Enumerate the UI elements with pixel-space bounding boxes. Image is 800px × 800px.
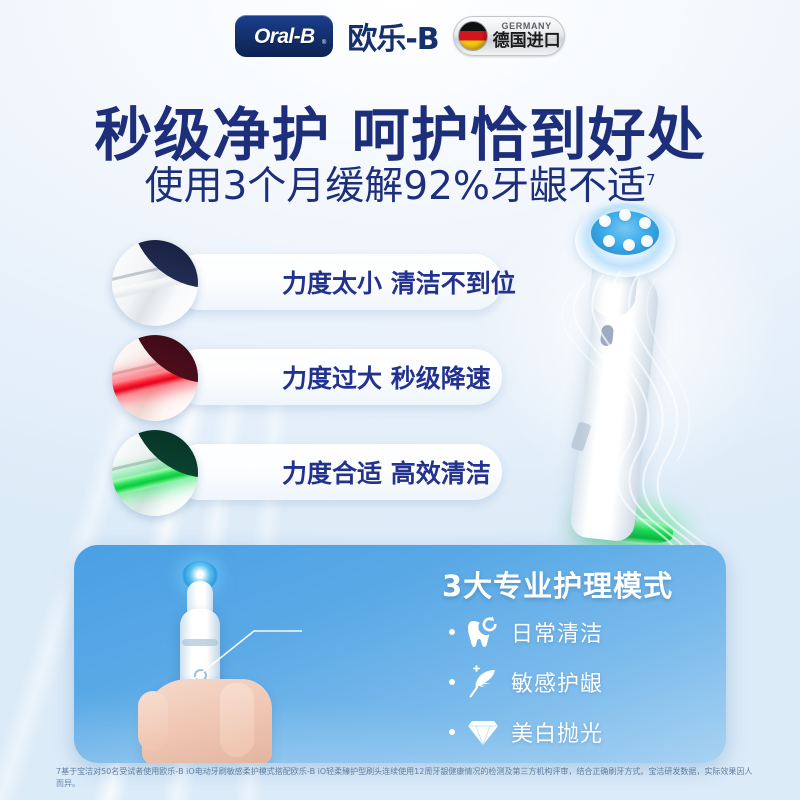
feather-icon <box>465 665 501 699</box>
hand-holding-toothbrush-illustration <box>102 551 302 763</box>
brand-chinese-name: 欧乐-B <box>347 14 438 58</box>
advertisement-page: Oral-B ® 欧乐-B GERMANY 德国进口 秒级净护 呵护恰到好处 使… <box>0 0 800 800</box>
mode-label: 敏感护龈 <box>511 666 603 698</box>
oral-b-logo: Oral-B ® <box>235 15 333 57</box>
oral-b-logo-text: Oral-B <box>254 26 315 47</box>
tooth-icon <box>465 615 501 649</box>
feature-label: 力度太小 清洁不到位 <box>282 264 516 300</box>
germany-import-badge: GERMANY 德国进口 <box>453 16 565 56</box>
bullet-dot-icon <box>449 629 455 635</box>
pressure-thumbnail-optimal <box>112 430 198 516</box>
thumb-finger <box>220 683 254 757</box>
german-flag-icon <box>458 21 488 51</box>
pressure-thumbnail-low <box>112 240 198 326</box>
feature-pill: 力度过大 秒级降速 <box>172 349 502 405</box>
mode-label: 日常清洁 <box>511 616 603 648</box>
badge-import-label: 德国进口 <box>493 33 561 50</box>
mode-label: 美白抛光 <box>511 716 603 748</box>
brush-collar <box>182 639 218 646</box>
badge-country-label: GERMANY <box>502 22 552 31</box>
mode-item-whitening: 美白抛光 <box>449 707 603 757</box>
diamond-icon <box>465 715 501 749</box>
modes-panel: 3大专业护理模式 日常清洁 <box>74 545 726 763</box>
mode-list: 日常清洁 敏感护龈 <box>449 607 603 757</box>
pressure-thumbnail-high <box>112 335 198 421</box>
feature-pill: 力度合适 高效清洁 <box>172 444 502 500</box>
bullet-dot-icon <box>449 729 455 735</box>
footnote-marker: 7 <box>646 171 656 189</box>
panel-title: 3大专业护理模式 <box>442 563 673 605</box>
feature-pill: 力度太小 清洁不到位 <box>172 254 502 310</box>
feature-label: 力度过大 秒级降速 <box>282 359 491 395</box>
mode-item-sensitive-gum: 敏感护龈 <box>449 657 603 707</box>
registered-mark-icon: ® <box>322 40 326 46</box>
feature-label: 力度合适 高效清洁 <box>282 454 491 490</box>
brand-header: Oral-B ® 欧乐-B GERMANY 德国进口 <box>0 14 800 58</box>
toothbrush-head-illustration <box>505 195 765 555</box>
finger <box>138 691 168 751</box>
bullet-dot-icon <box>449 679 455 685</box>
mode-item-daily-clean: 日常清洁 <box>449 607 603 657</box>
footnote-text: 7基于宝洁对50名受试者使用欧乐-B iO电动牙刷敏感柔护模式搭配欧乐-B iO… <box>56 766 756 791</box>
brush-bristles <box>565 195 685 287</box>
